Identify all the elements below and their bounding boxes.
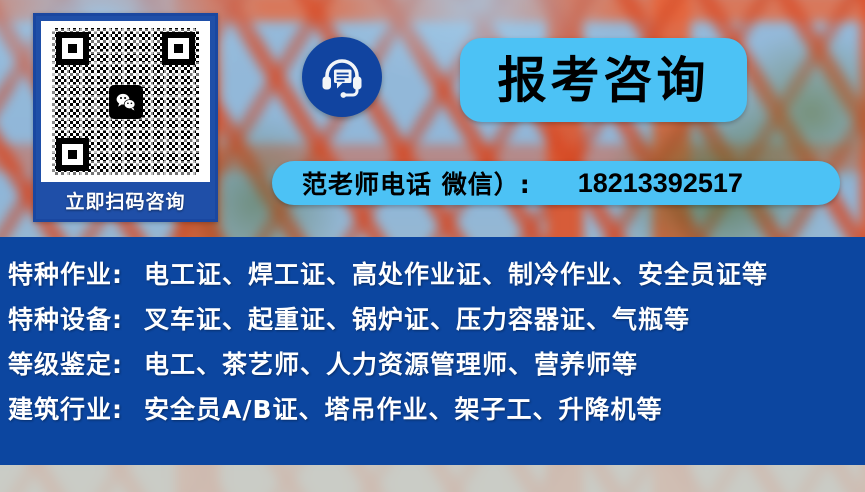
category-colon: : [112,260,122,289]
wechat-icon [109,85,143,119]
contact-phone-badge[interactable]: 范老师电话 微信）: 18213392517 [272,161,840,205]
category-row-special-equipment: 特种设备 : 叉车证、起重证、锅炉证、压力容器证、气瓶等 [8,300,690,336]
category-colon: : [112,395,122,424]
contact-phone-number[interactable]: 18213392517 [578,168,743,199]
qr-finder-bottom-left [56,138,89,171]
page-title: 报考咨询 [497,56,709,105]
qr-finder-top-left [56,32,89,65]
headset-support-icon [302,37,382,117]
qr-finder-top-right [162,32,195,65]
category-colon: : [112,305,122,334]
category-items: 安全员A/B证、塔吊作业、架子工、升降机等 [144,390,663,426]
qr-code-matrix [52,28,199,175]
category-label: 特种设备 [8,300,112,336]
qr-code-image[interactable] [41,21,210,182]
category-row-construction-industry: 建筑行业 : 安全员A/B证、塔吊作业、架子工、升降机等 [8,390,663,426]
category-row-grade-appraisal: 等级鉴定 : 电工、茶艺师、人力资源管理师、营养师等 [8,345,638,381]
category-row-special-operations: 特种作业 : 电工证、焊工证、高处作业证、制冷作业、安全员证等 [8,255,768,291]
category-items: 电工、茶艺师、人力资源管理师、营养师等 [144,345,638,381]
contact-label: 范老师电话 微信）: [302,165,531,201]
qr-code-card[interactable]: 立即扫码咨询 [33,13,218,222]
advertisement-banner: 立即扫码咨询 报考咨询 范老师电话 微信）: 18213392517 特种作业 … [0,0,865,492]
category-label: 建筑行业 [8,390,112,426]
category-items: 叉车证、起重证、锅炉证、压力容器证、气瓶等 [144,300,690,336]
title-badge: 报考咨询 [460,38,747,122]
certificate-categories-panel: 特种作业 : 电工证、焊工证、高处作业证、制冷作业、安全员证等 特种设备 : 叉… [0,237,865,465]
qr-caption-label: 立即扫码咨询 [65,182,185,219]
category-label: 等级鉴定 [8,345,112,381]
category-items: 电工证、焊工证、高处作业证、制冷作业、安全员证等 [144,255,768,291]
category-colon: : [112,350,122,379]
category-label: 特种作业 [8,255,112,291]
